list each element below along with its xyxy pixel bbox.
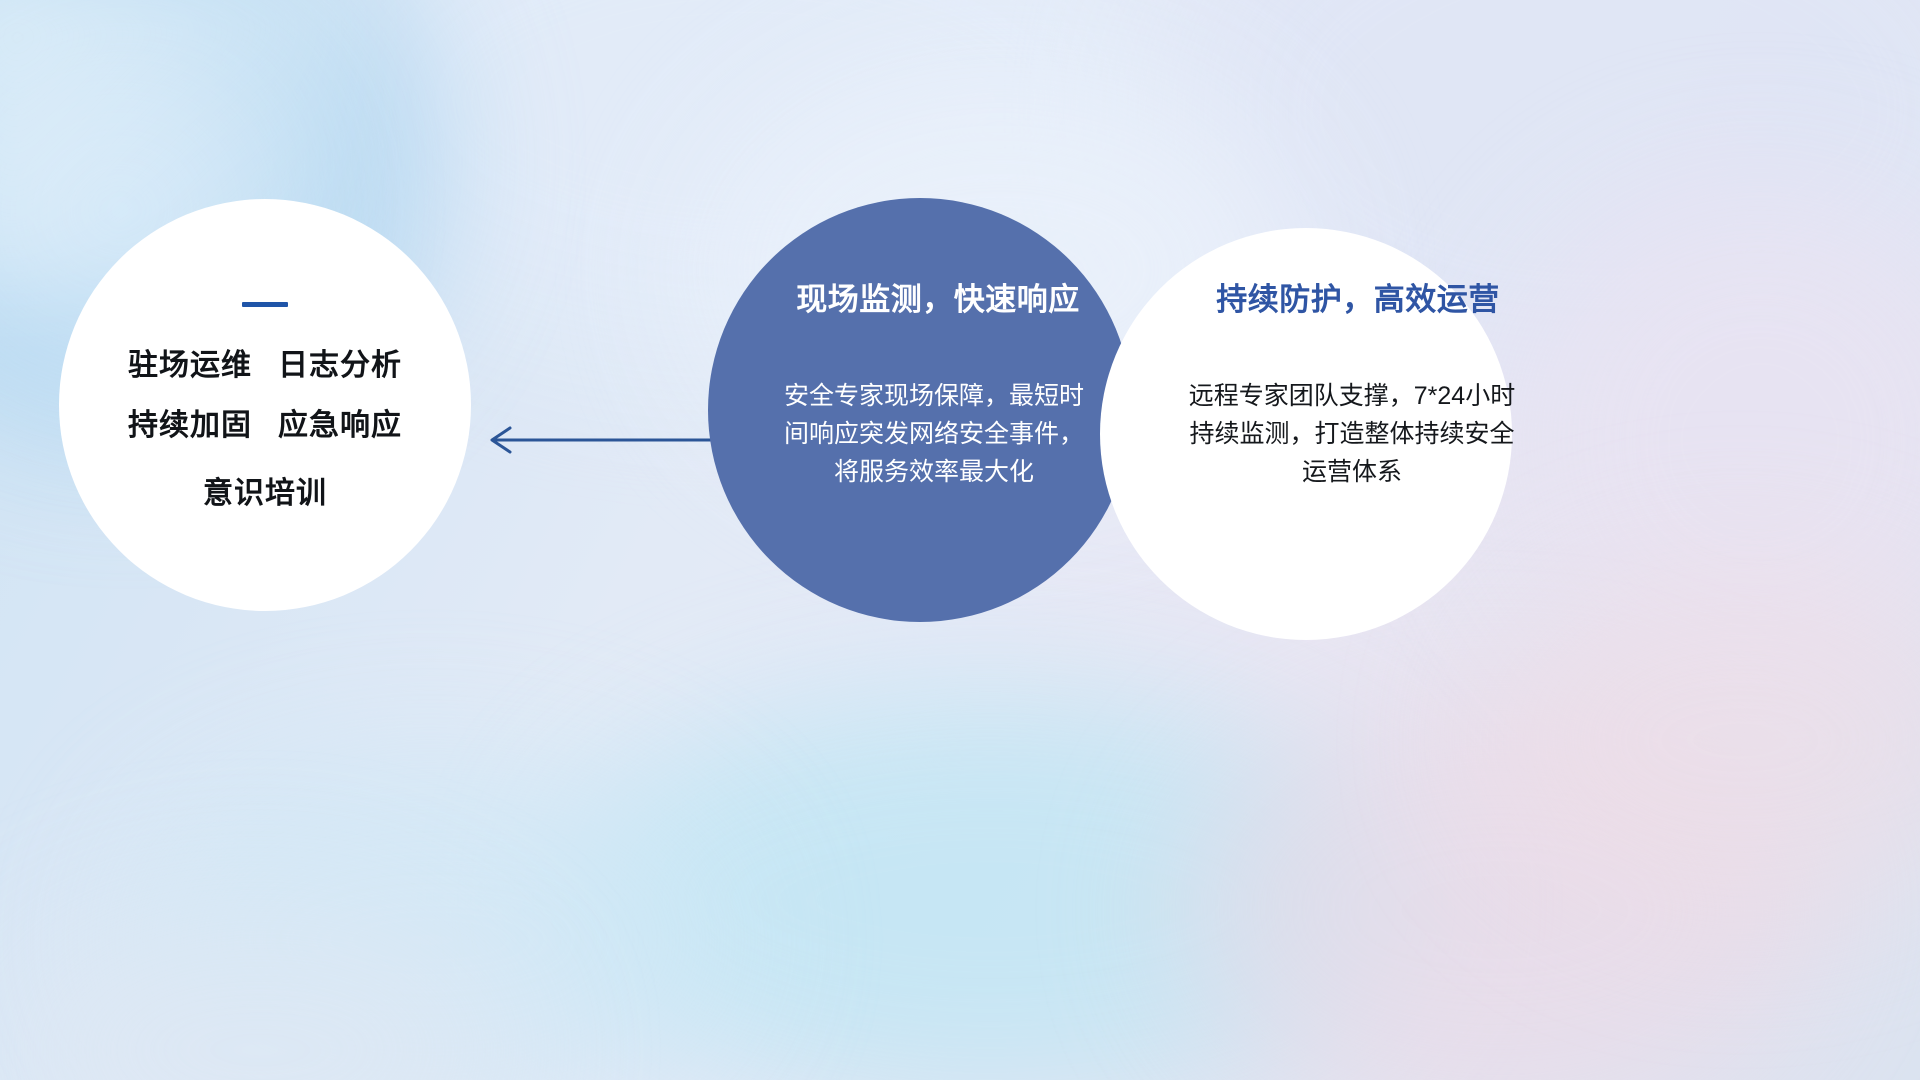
left-keyword-1b: 日志分析 (278, 349, 402, 382)
dash-divider-icon (242, 302, 288, 307)
slide-canvas: 驻场运维日志分析 持续加固应急响应 意识培训 现场监测，快速响应 安全专家现场保… (0, 0, 1920, 1080)
right-circle-content: 持续防护，高效运营 远程专家团队支撑，7*24小时持续监测，打造整体持续安全运营… (1100, 228, 1512, 640)
left-keyword-2a: 持续加固 (128, 409, 252, 442)
arrow-left-icon (480, 410, 720, 470)
left-circle-line-3: 意识培训 (203, 479, 327, 509)
right-circle-body: 远程专家团队支撑，7*24小时持续监测，打造整体持续安全运营体系 (1179, 377, 1525, 491)
middle-circle-body: 安全专家现场保障，最短时间响应突发网络安全事件，将服务效率最大化 (784, 377, 1084, 491)
right-circle-title: 持续防护，高效运营 (1216, 284, 1500, 315)
left-circle-line-1: 驻场运维日志分析 (128, 351, 402, 381)
left-keyword-1a: 驻场运维 (128, 349, 252, 382)
middle-circle-title: 现场监测，快速响应 (796, 284, 1080, 315)
left-keyword-2b: 应急响应 (278, 409, 402, 442)
left-circle-content: 驻场运维日志分析 持续加固应急响应 意识培训 (59, 199, 471, 611)
left-circle-line-2: 持续加固应急响应 (128, 411, 402, 441)
middle-circle-content: 现场监测，快速响应 安全专家现场保障，最短时间响应突发网络安全事件，将服务效率最… (708, 198, 1132, 622)
